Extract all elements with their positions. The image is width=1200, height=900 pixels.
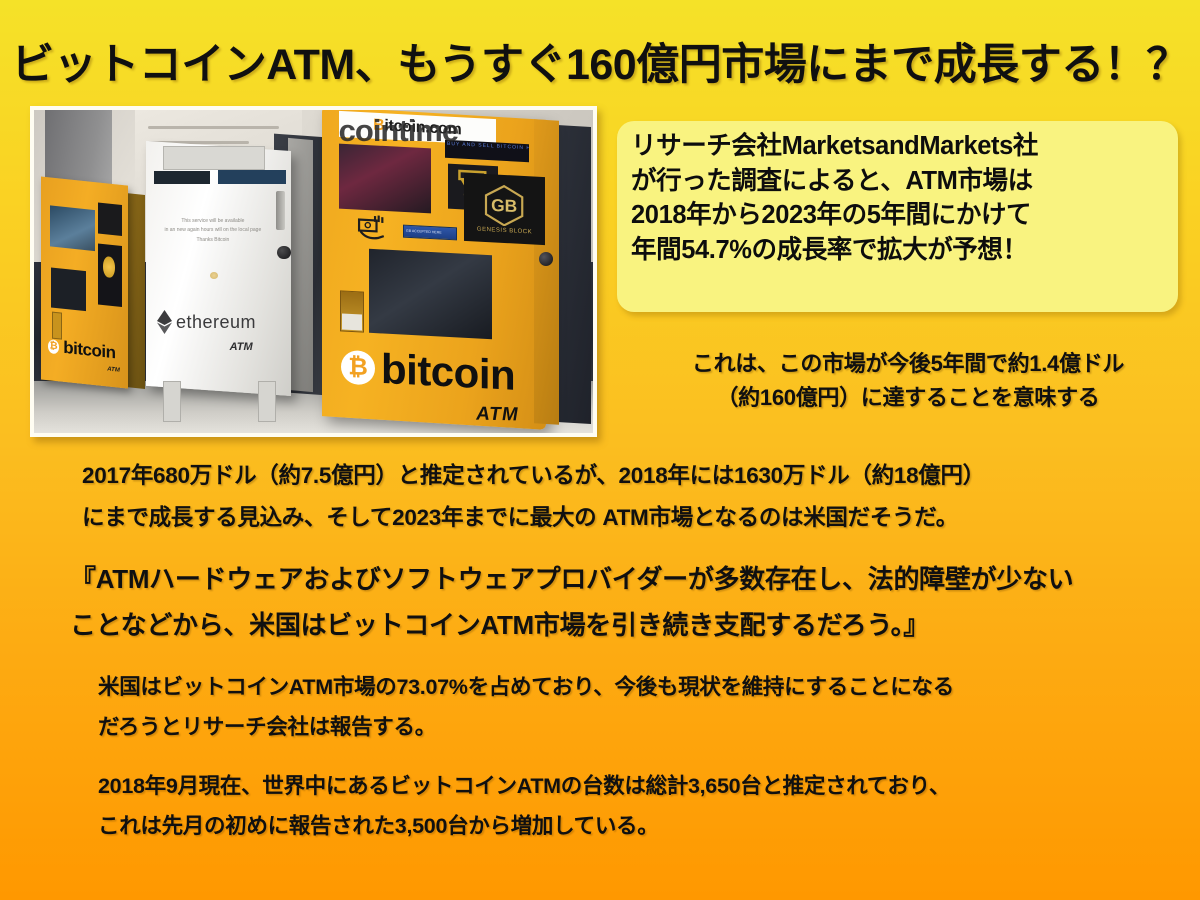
ethereum-wordmark: ethereum xyxy=(176,313,256,331)
bitcoin-atm-label: ATM xyxy=(475,404,518,427)
ethereum-diamond-icon xyxy=(157,310,172,334)
photo-frame: ₿ bitcoin ATM This service will be avail… xyxy=(30,106,597,437)
genesis-block-logo-icon: GB xyxy=(480,182,530,227)
mid-atm-top-tray xyxy=(163,146,266,171)
left-atm-top-strip xyxy=(98,203,122,236)
paragraph-1-line-1: 2017年680万ドル（約7.5億円）と推定されているが、2018年には1630… xyxy=(82,455,985,497)
left-atm-coin-icon xyxy=(104,256,115,278)
right-atm-main-screen xyxy=(369,249,492,339)
mid-atm-display-slot xyxy=(218,170,285,185)
mid-atm-screen-note: This service will be available in an new… xyxy=(157,217,269,262)
left-atm-slot xyxy=(52,267,87,311)
slide-canvas: ビットコインATM、もうすぐ160億円市場にまで成長する！？ xyxy=(0,0,1200,900)
paragraph-2-line-2: ことなどから、米国はビットコインATM市場を引き続き支配するだろう。』 xyxy=(70,602,1073,648)
paragraph-4-line-2: これは先月の初めに報告された3,500台から増加している。 xyxy=(98,807,950,847)
right-atm-top-screen xyxy=(339,143,431,212)
callout-line-3: 2018年から2023年の5年間にかけて xyxy=(631,198,1168,233)
left-atm-side-panel xyxy=(126,193,145,389)
right-atm-blue-sticker-text: GB ACCEPTED HERE xyxy=(406,230,442,235)
highlight-callout-box: リサーチ会社MarketsandMarkets社 が行った調査によると、ATM市… xyxy=(617,121,1178,312)
bitcoin-symbol-icon: ₿ xyxy=(48,339,59,354)
ethereum-atm-label: ATM xyxy=(230,341,253,353)
right-atm-note-dispenser xyxy=(340,290,364,332)
dispensed-note xyxy=(342,314,362,331)
cointime-watermark: cointime xyxy=(339,113,458,149)
page-title: ビットコインATM、もうすぐ160億円市場にまで成長する！？ xyxy=(0,30,1200,92)
paragraph-3-line-1: 米国はビットコインATM市場の73.07%を占めており、今後も現状を維持にするこ… xyxy=(98,668,954,708)
mid-atm-leg-left xyxy=(163,381,182,422)
mid-atm-leg-right xyxy=(258,381,277,422)
left-atm-bitcoin-logo: ₿ bitcoin xyxy=(48,332,116,368)
paragraph-2-line-1: 『ATMハードウェアおよびソフトウェアプロバイダーが多数存在し、法的障壁が少ない xyxy=(70,556,1073,602)
paragraph-3: 米国はビットコインATM市場の73.07%を占めており、今後も現状を維持にするこ… xyxy=(98,668,954,748)
mid-atm-side-panel xyxy=(288,138,313,392)
crypto-atm-photo: ₿ bitcoin ATM This service will be avail… xyxy=(34,110,593,433)
paragraph-1: 2017年680万ドル（約7.5億円）と推定されているが、2018年には1630… xyxy=(82,455,985,538)
paragraph-1-line-2: にまで成長する見込み、そして2023年までに最大の ATM市場となるのは米国だそ… xyxy=(82,497,985,539)
right-atm-dark-side xyxy=(557,125,591,424)
mid-atm-lock-icon xyxy=(277,246,290,260)
bitcoin-symbol-icon-large: ₿ xyxy=(341,349,375,385)
mid-atm-indicator xyxy=(210,272,218,279)
genesis-block-text: GENESIS BLOCK xyxy=(477,226,532,235)
ethereum-logo: ethereum xyxy=(157,307,291,336)
paragraph-2-quote: 『ATMハードウェアおよびソフトウェアプロバイダーが多数存在し、法的障壁が少ない… xyxy=(70,556,1073,649)
callout-line-2: が行った調査によると、ATM市場は xyxy=(631,164,1168,199)
right-note-line-1: これは、この市場が今後5年間で約1.4億ドル xyxy=(618,347,1198,381)
bitcoin-logo: ₿ bitcoin xyxy=(341,337,542,406)
left-bitcoin-atm: ₿ bitcoin ATM xyxy=(41,176,128,389)
left-atm-atm-label: ATM xyxy=(108,367,121,374)
hand-with-cash-icon xyxy=(347,212,397,244)
mid-atm-note-line-3: Thanks Bitcoin xyxy=(157,236,269,246)
callout-line-4: 年間54.7%の成長率で拡大が予想！ xyxy=(631,233,1168,268)
left-atm-bitcoin-wordmark: bitcoin xyxy=(64,339,116,361)
mid-atm-note-line-2: in an new again hours will on the local … xyxy=(157,226,269,236)
paragraph-4-line-1: 2018年9月現在、世界中にあるビットコインATMの台数は総計3,650台と推定… xyxy=(98,767,950,807)
bitcoin-wordmark: bitcoin xyxy=(381,347,515,396)
right-note-line-2: （約160億円）に達することを意味する xyxy=(618,381,1198,415)
right-note-paragraph: これは、この市場が今後5年間で約1.4億ドル （約160億円）に達することを意味… xyxy=(618,347,1198,415)
left-atm-screen xyxy=(50,206,95,251)
mid-atm-note-line-1: This service will be available xyxy=(157,217,269,227)
svg-text:GB: GB xyxy=(492,194,518,215)
callout-line-1: リサーチ会社MarketsandMarkets社 xyxy=(631,129,1168,164)
mid-atm-handle xyxy=(276,191,285,230)
mid-atm-card-slot xyxy=(154,171,210,184)
paragraph-3-line-2: だろうとリサーチ会社は報告する。 xyxy=(98,708,954,748)
genesis-block-sticker: GB GENESIS BLOCK xyxy=(464,172,545,244)
paragraph-4: 2018年9月現在、世界中にあるビットコインATMの台数は総計3,650台と推定… xyxy=(98,767,950,847)
